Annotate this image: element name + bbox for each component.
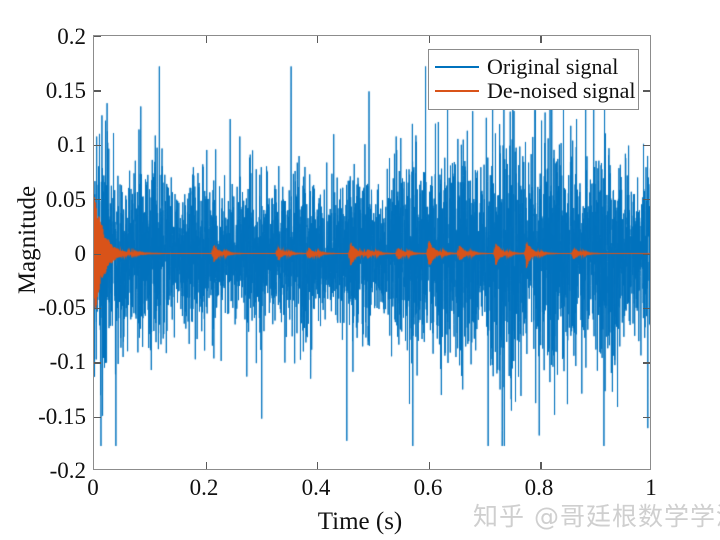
y-tick-mark-right	[643, 254, 650, 255]
figure-root: 0.2 0.15 0.1 0.05 0 -0.05 -0.1 -0.15 -0.…	[0, 0, 720, 540]
y-tick-label: -0.2	[0, 459, 86, 482]
y-tick-label: 0	[0, 242, 86, 265]
y-axis-title: Magnitude	[14, 120, 42, 360]
y-tick-mark-right	[643, 145, 650, 146]
y-tick-label: -0.1	[0, 350, 86, 373]
legend-swatch-denoised-signal	[435, 90, 479, 92]
x-tick-mark	[540, 462, 541, 469]
x-tick-mark	[206, 462, 207, 469]
x-tick-label: 0.2	[190, 476, 219, 499]
legend-label: De-noised signal	[487, 80, 635, 102]
x-tick-label: 0	[87, 476, 99, 499]
x-tick-label: 0.6	[414, 476, 443, 499]
y-tick-label: 0.05	[0, 188, 86, 211]
x-tick-mark	[317, 462, 318, 469]
legend-swatch-original-signal	[435, 66, 479, 68]
legend: Original signal De-noised signal	[428, 49, 639, 110]
y-tick-label: 0.1	[0, 133, 86, 156]
x-tick-mark-top	[429, 36, 430, 43]
y-tick-mark	[94, 254, 101, 255]
x-tick-mark-top	[206, 36, 207, 43]
watermark: 知乎 @哥廷根数学学派	[473, 497, 720, 533]
plot-area: Original signal De-noised signal	[93, 35, 651, 470]
y-tick-mark-right	[643, 90, 650, 91]
y-tick-mark	[94, 308, 101, 309]
x-tick-mark-top	[317, 36, 318, 43]
x-tick-label: 1	[645, 476, 657, 499]
x-tick-mark	[429, 462, 430, 469]
y-tick-label: 0.15	[0, 79, 86, 102]
x-tick-label: 0.8	[525, 476, 554, 499]
y-tick-mark	[94, 199, 101, 200]
y-tick-mark-right	[643, 308, 650, 309]
y-tick-label: -0.05	[0, 296, 86, 319]
x-tick-mark-top	[540, 36, 541, 43]
y-tick-mark	[94, 417, 101, 418]
legend-label: Original signal	[487, 56, 618, 78]
y-tick-mark	[94, 362, 101, 363]
y-tick-mark	[94, 90, 101, 91]
x-tick-label: 0.4	[302, 476, 331, 499]
y-tick-mark-right	[643, 362, 650, 363]
legend-item-original-signal: Original signal	[435, 55, 630, 79]
y-tick-label: -0.15	[0, 405, 86, 428]
y-tick-mark-right	[643, 199, 650, 200]
legend-item-denoised-signal: De-noised signal	[435, 79, 630, 103]
y-tick-mark	[94, 145, 101, 146]
y-tick-mark	[94, 36, 101, 37]
y-tick-label: 0.2	[0, 25, 86, 48]
y-tick-mark-right	[643, 417, 650, 418]
